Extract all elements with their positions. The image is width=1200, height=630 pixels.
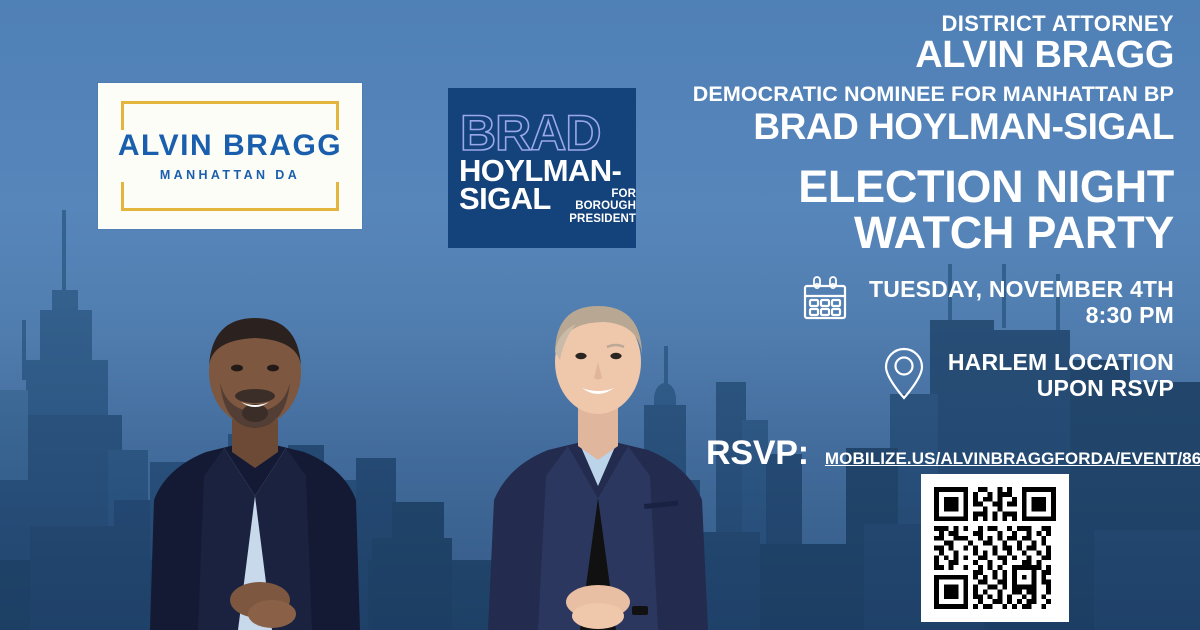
logo-office-subtitle: MANHATTAN DA [154, 168, 306, 182]
qr-code[interactable] [934, 487, 1056, 609]
map-pin-icon [878, 344, 930, 407]
alvin-bragg-campaign-logo: ALVIN BRAGG MANHATTAN DA [98, 83, 362, 229]
eyebrow-district-attorney: DISTRICT ATTORNEY [644, 12, 1174, 35]
logo-first-name: BRAD [460, 108, 600, 158]
rsvp-label: RSVP: [706, 434, 809, 473]
logo-gold-frame: ALVIN BRAGG MANHATTAN DA [121, 101, 339, 211]
brad-hoylman-sigal-portrait [468, 290, 728, 630]
event-time-line: 8:30 PM [869, 303, 1174, 329]
event-location-line2: UPON RSVP [948, 376, 1174, 402]
calendar-icon [799, 274, 851, 331]
event-title: ELECTION NIGHT WATCH PARTY [644, 164, 1174, 256]
eyebrow-democratic-nominee: DEMOCRATIC NOMINEE FOR MANHATTAN BP [644, 83, 1174, 106]
event-location-row: HARLEM LOCATION UPON RSVP [878, 344, 1174, 407]
rsvp-row: RSVP: MOBILIZE.US/ALVINBRAGGFORDA/EVENT/… [706, 434, 1200, 473]
rsvp-url-link[interactable]: MOBILIZE.US/ALVINBRAGGFORDA/EVENT/864077… [825, 449, 1200, 469]
headline-block: DISTRICT ATTORNEY ALVIN BRAGG DEMOCRATIC… [644, 12, 1174, 145]
photo-alvin-bragg [120, 300, 390, 630]
qr-code-container[interactable] [921, 474, 1069, 622]
logo-office-tagline: FOR BOROUGH PRESIDENT [566, 188, 636, 225]
event-date-line1: TUESDAY, NOVEMBER 4TH [869, 277, 1174, 303]
brad-hoylman-sigal-campaign-logo: BRAD HOYLMAN- SIGAL FOR BOROUGH PRESIDEN… [448, 88, 636, 248]
event-title-line2: WATCH PARTY [644, 210, 1174, 256]
headline-alvin-bragg: ALVIN BRAGG [644, 36, 1174, 74]
headline-brad-hoylman-sigal: BRAD HOYLMAN-SIGAL [644, 108, 1174, 145]
event-location-text: HARLEM LOCATION UPON RSVP [948, 350, 1174, 402]
event-date-text: TUESDAY, NOVEMBER 4TH 8:30 PM [869, 277, 1174, 329]
photo-brad-hoylman-sigal [468, 290, 728, 630]
event-flyer: ALVIN BRAGG MANHATTAN DA BRAD HOYLMAN- S… [0, 0, 1200, 630]
logo-last-name-line2: SIGAL [459, 184, 551, 213]
event-location-line1: HARLEM LOCATION [948, 350, 1174, 376]
logo-candidate-name: ALVIN BRAGG [108, 131, 352, 161]
event-title-line1: ELECTION NIGHT [644, 164, 1174, 210]
event-date-row: TUESDAY, NOVEMBER 4TH 8:30 PM [799, 274, 1174, 331]
alvin-bragg-portrait [120, 300, 390, 630]
